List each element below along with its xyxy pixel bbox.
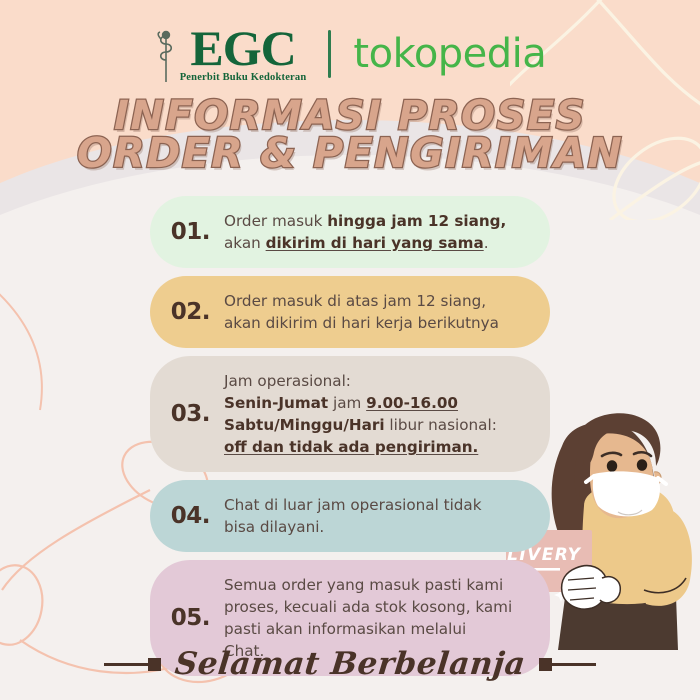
- logo-row: EGC Penerbit Buku Kedokteran tokopedia: [0, 22, 700, 86]
- info-row-line: akan dikirim di hari yang sama.: [224, 232, 506, 254]
- info-row-number: 03.: [150, 401, 216, 427]
- info-row-text: Order masuk hingga jam 12 siang,akan dik…: [216, 196, 524, 268]
- footer-script-text: Selamat Berbelanja: [173, 646, 527, 682]
- egc-name: EGC: [190, 25, 295, 73]
- text-segment: akan: [224, 234, 266, 252]
- text-segment: Chat di luar jam operasional tidak: [224, 496, 482, 514]
- info-row-line: Order masuk di atas jam 12 siang,: [224, 290, 499, 312]
- text-segment: Sabtu/Minggu/Hari: [224, 416, 385, 434]
- text-segment: proses, kecuali ada stok kosong, kami: [224, 598, 512, 616]
- info-row-line: Jam operasional:: [224, 370, 497, 392]
- info-row-number: 05.: [150, 605, 216, 631]
- info-row-line: off dan tidak ada pengiriman.: [224, 436, 497, 458]
- caduceus-icon: [154, 30, 178, 84]
- info-row-number: 04.: [150, 503, 216, 529]
- text-segment: Order masuk: [224, 212, 327, 230]
- text-segment: 9.00-16.00: [366, 394, 458, 412]
- info-row-number: 01.: [150, 219, 216, 245]
- text-segment: Semua order yang masuk pasti kami: [224, 576, 503, 594]
- info-row-line: Semua order yang masuk pasti kami: [224, 574, 512, 596]
- text-segment: Jam operasional:: [224, 372, 351, 390]
- info-row-line: pasti akan informasikan melalui: [224, 618, 512, 640]
- info-list: 01.Order masuk hingga jam 12 siang,akan …: [0, 196, 700, 684]
- info-row-text: Chat di luar jam operasional tidakbisa d…: [216, 480, 500, 552]
- infographic-poster: EGC Penerbit Buku Kedokteran tokopedia I…: [0, 0, 700, 700]
- tokopedia-logo: tokopedia: [353, 34, 546, 74]
- text-segment: off dan tidak ada pengiriman.: [224, 438, 478, 456]
- info-row-04: 04.Chat di luar jam operasional tidakbis…: [150, 480, 550, 552]
- text-segment: bisa dilayani.: [224, 518, 324, 536]
- info-row-line: Senin-Jumat jam 9.00-16.00: [224, 392, 497, 414]
- text-segment: .: [484, 234, 489, 252]
- text-segment: hingga jam 12 siang,: [327, 212, 506, 230]
- info-row-text: Order masuk di atas jam 12 siang,akan di…: [216, 276, 517, 348]
- info-row-02: 02.Order masuk di atas jam 12 siang,akan…: [150, 276, 550, 348]
- info-row-03: 03.Jam operasional:Senin-Jumat jam 9.00-…: [150, 356, 550, 472]
- text-segment: Senin-Jumat: [224, 394, 328, 412]
- text-segment: Order masuk di atas jam 12 siang,: [224, 292, 486, 310]
- text-segment: libur nasional:: [385, 416, 497, 434]
- page-title: INFORMASI PROSES ORDER & PENGIRIMAN: [0, 98, 700, 173]
- info-row-line: Order masuk hingga jam 12 siang,: [224, 210, 506, 232]
- text-segment: dikirim di hari yang sama: [266, 234, 484, 252]
- egc-tagline: Penerbit Buku Kedokteran: [180, 73, 307, 84]
- info-row-line: Chat di luar jam operasional tidak: [224, 494, 482, 516]
- text-segment: akan dikirim di hari kerja berikutnya: [224, 314, 499, 332]
- footer-decoration-left: [104, 658, 161, 671]
- text-segment: jam: [328, 394, 366, 412]
- info-row-line: proses, kecuali ada stok kosong, kami: [224, 596, 512, 618]
- info-row-line: akan dikirim di hari kerja berikutnya: [224, 312, 499, 334]
- egc-logo: EGC Penerbit Buku Kedokteran: [154, 25, 307, 84]
- title-line-2: ORDER & PENGIRIMAN: [0, 135, 700, 173]
- footer: Selamat Berbelanja: [0, 646, 700, 682]
- text-segment: pasti akan informasikan melalui: [224, 620, 466, 638]
- egc-wordmark: EGC Penerbit Buku Kedokteran: [180, 25, 307, 84]
- logo-divider: [328, 30, 331, 78]
- info-row-line: bisa dilayani.: [224, 516, 482, 538]
- info-row-text: Jam operasional:Senin-Jumat jam 9.00-16.…: [216, 356, 515, 472]
- footer-decoration-right: [539, 658, 596, 671]
- info-row-number: 02.: [150, 299, 216, 325]
- info-row-line: Sabtu/Minggu/Hari libur nasional:: [224, 414, 497, 436]
- info-row-01: 01.Order masuk hingga jam 12 siang,akan …: [150, 196, 550, 268]
